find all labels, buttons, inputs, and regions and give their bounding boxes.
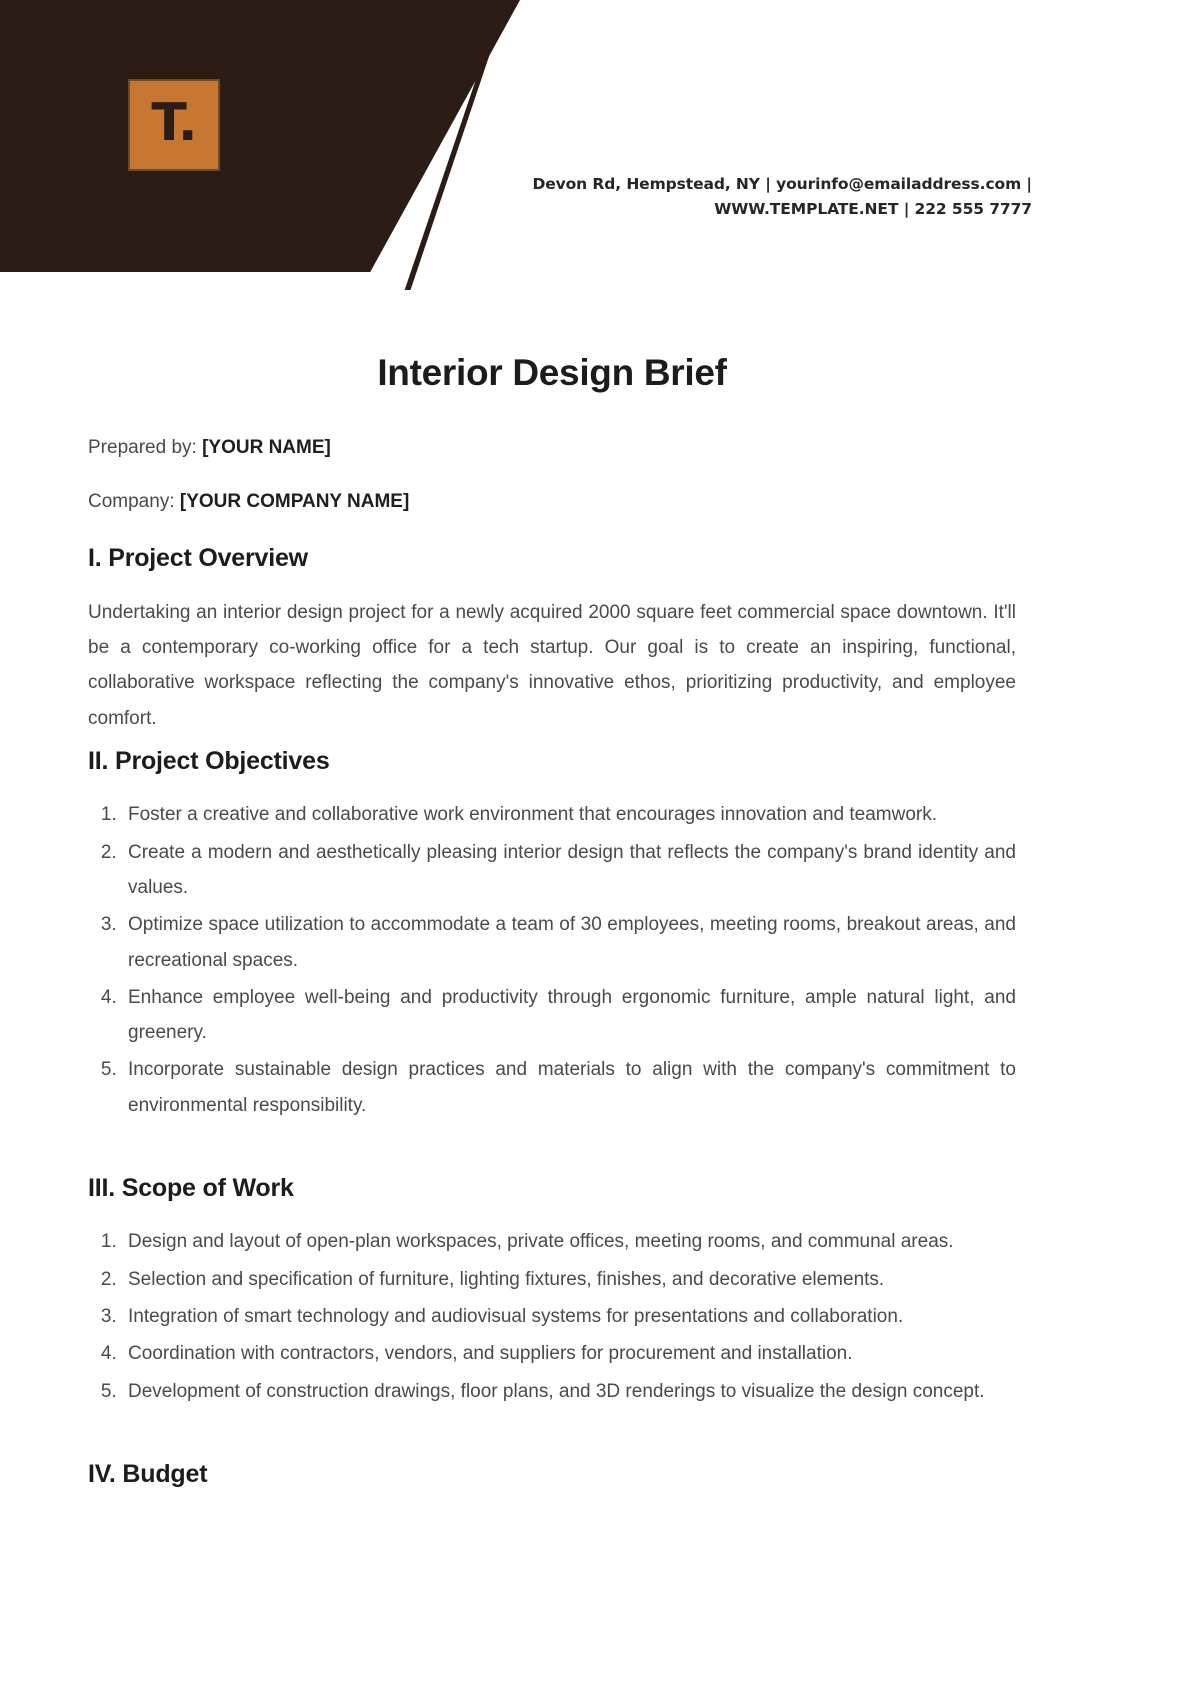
- document-header: T. Devon Rd, Hempstead, NY | yourinfo@em…: [0, 0, 1200, 300]
- contact-line-web-phone: WWW.TEMPLATE.NET | 222 555 7777: [332, 197, 1032, 222]
- prepared-by-label: Prepared by:: [88, 437, 197, 458]
- company-line: Company: [YOUR COMPANY NAME]: [88, 490, 1016, 515]
- document-body: Interior Design Brief Prepared by: [YOUR…: [88, 352, 1016, 1510]
- section-heading-project-overview: I. Project Overview: [88, 543, 1016, 574]
- company-value: [YOUR COMPANY NAME]: [180, 491, 409, 512]
- page-title: Interior Design Brief: [88, 352, 1016, 394]
- prepared-by-line: Prepared by: [YOUR NAME]: [88, 436, 1016, 461]
- project-objectives-list: Foster a creative and collaborative work…: [88, 797, 1016, 1123]
- list-item: Foster a creative and collaborative work…: [122, 797, 1016, 832]
- list-item: Enhance employee well-being and producti…: [122, 980, 1016, 1051]
- section-heading-budget: IV. Budget: [88, 1459, 1016, 1490]
- header-background-shape: [0, 0, 520, 272]
- contact-line-address: Devon Rd, Hempstead, NY | yourinfo@email…: [332, 172, 1032, 197]
- company-logo: T.: [128, 79, 220, 171]
- header-contact-info: Devon Rd, Hempstead, NY | yourinfo@email…: [332, 172, 1032, 222]
- list-item: Selection and specification of furniture…: [122, 1262, 1016, 1297]
- list-item: Create a modern and aesthetically pleasi…: [122, 835, 1016, 906]
- section-heading-project-objectives: II. Project Objectives: [88, 746, 1016, 777]
- prepared-by-value: [YOUR NAME]: [202, 437, 331, 458]
- list-item: Optimize space utilization to accommodat…: [122, 907, 1016, 978]
- company-label: Company:: [88, 491, 175, 512]
- section-heading-scope-of-work: III. Scope of Work: [88, 1173, 1016, 1204]
- list-item: Coordination with contractors, vendors, …: [122, 1336, 1016, 1371]
- scope-of-work-list: Design and layout of open-plan workspace…: [88, 1224, 1016, 1409]
- template-t-logo-icon: T.: [130, 81, 218, 169]
- list-item: Design and layout of open-plan workspace…: [122, 1224, 1016, 1259]
- section-paragraph-project-overview: Undertaking an interior design project f…: [88, 595, 1016, 736]
- list-item: Incorporate sustainable design practices…: [122, 1052, 1016, 1123]
- list-item: Integration of smart technology and audi…: [122, 1299, 1016, 1334]
- list-item: Development of construction drawings, fl…: [122, 1374, 1016, 1409]
